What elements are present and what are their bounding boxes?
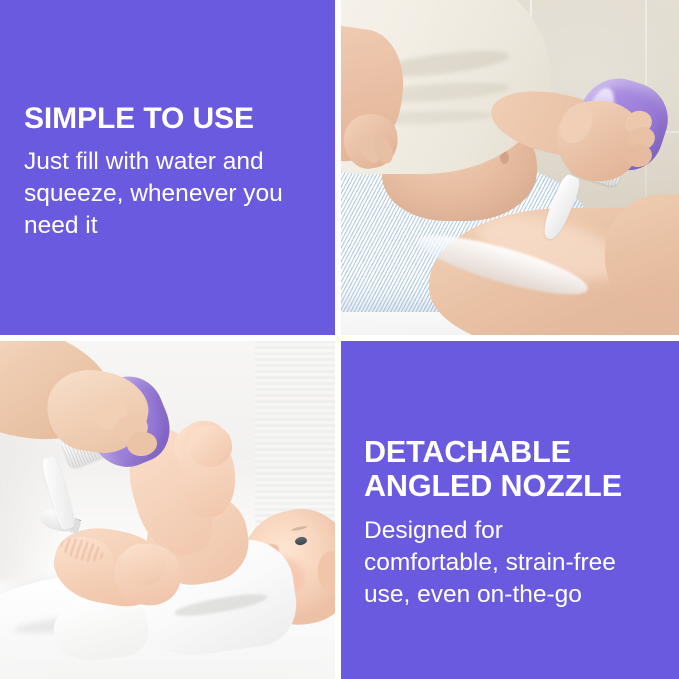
photo-woman-using-peri-bottle (341, 0, 679, 335)
product-feature-infographic: SIMPLE TO USE Just fill with water and s… (0, 0, 679, 679)
headline-detachable-angled-nozzle: DETACHABLE ANGLED NOZZLE (364, 435, 655, 503)
subline-detachable-angled-nozzle: Designed for comfortable, strain-free us… (364, 515, 655, 611)
photo-baby-with-angled-nozzle (0, 341, 335, 679)
bathroom-scene (341, 0, 679, 335)
subline-simple-to-use: Just fill with water and squeeze, whenev… (24, 146, 311, 242)
panel-simple-to-use: SIMPLE TO USE Just fill with water and s… (0, 0, 335, 335)
headline-simple-to-use: SIMPLE TO USE (24, 103, 311, 135)
nursery-scene (0, 341, 335, 679)
panel-detachable-angled-nozzle: DETACHABLE ANGLED NOZZLE Designed for co… (341, 341, 679, 679)
